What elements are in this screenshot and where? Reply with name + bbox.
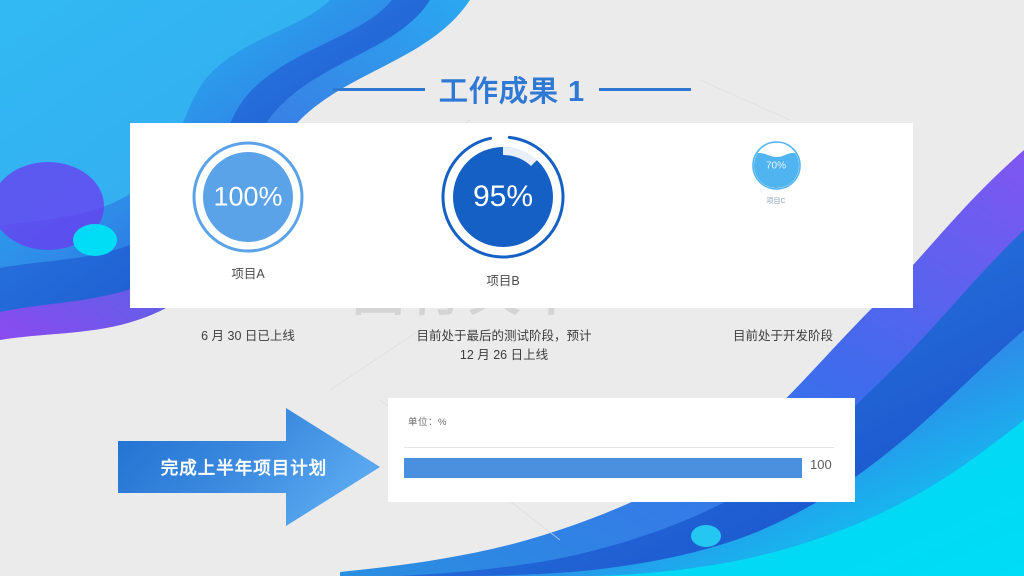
metric-item-a: 100% 项目A <box>178 140 318 282</box>
metric-caption-c: 目前处于开发阶段 <box>700 327 866 346</box>
page-title: 工作成果 1 <box>0 68 1024 110</box>
bar-fill <box>404 458 802 478</box>
progress-ring-a: 100% <box>191 140 305 254</box>
metric-value-b: 95% <box>439 180 567 214</box>
progress-ring-c: 70% <box>751 140 802 191</box>
bar-chart-card <box>388 398 855 502</box>
bar-value-label: 100 <box>810 457 832 472</box>
metric-label-c: 项目C <box>730 196 822 206</box>
metric-label-a: 项目A <box>178 263 318 282</box>
arrow-banner: 完成上半年项目计划 <box>118 408 380 526</box>
metric-item-b: 95% 项目B <box>428 133 578 289</box>
metric-value-a: 100% <box>191 182 305 213</box>
title-label: 工作成果 1 <box>439 68 585 110</box>
chart-unit-label: 单位：% <box>408 414 447 428</box>
title-rule-right <box>599 88 691 91</box>
metric-label-b: 项目B <box>428 270 578 289</box>
slide-canvas: 图行天下 工作成果 1 100% 项目A 95% 项目B <box>0 0 1024 576</box>
progress-ring-b: 95% <box>439 133 567 261</box>
metric-caption-b: 目前处于最后的测试阶段，预计 12 月 26 日上线 <box>416 327 592 366</box>
metric-value-c: 70% <box>751 160 802 171</box>
metric-caption-a: 6 月 30 日已上线 <box>148 327 348 346</box>
title-rule-left <box>333 88 425 91</box>
chart-axis-line <box>404 447 834 448</box>
arrow-banner-label: 完成上半年项目计划 <box>130 408 358 526</box>
metric-item-c: 70% 项目C <box>730 140 822 206</box>
bar-track <box>404 458 834 478</box>
